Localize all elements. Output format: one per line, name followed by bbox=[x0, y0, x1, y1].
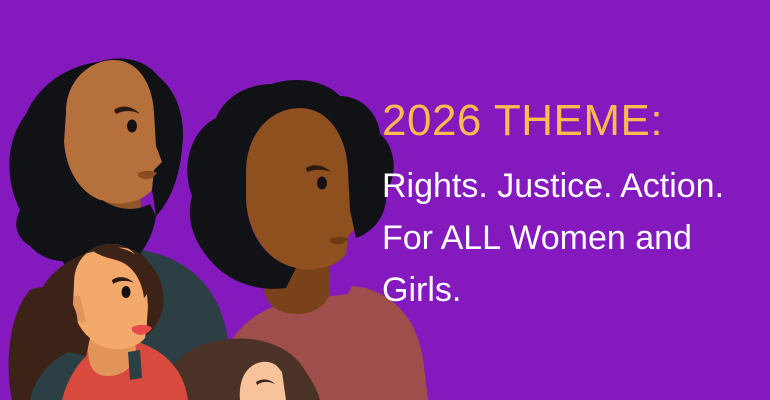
theme-text-block: 2026 THEME: Rights. Justice. Action. For… bbox=[382, 96, 752, 316]
eye bbox=[317, 177, 327, 190]
eye bbox=[122, 286, 131, 298]
theme-statement-text: Rights. Justice. Action. For ALL Women a… bbox=[382, 160, 752, 316]
theme-year-label: 2026 THEME: bbox=[382, 96, 752, 146]
eye bbox=[127, 120, 137, 133]
collar-accent bbox=[128, 350, 142, 380]
theme-banner: 2026 THEME: Rights. Justice. Action. For… bbox=[0, 0, 770, 400]
